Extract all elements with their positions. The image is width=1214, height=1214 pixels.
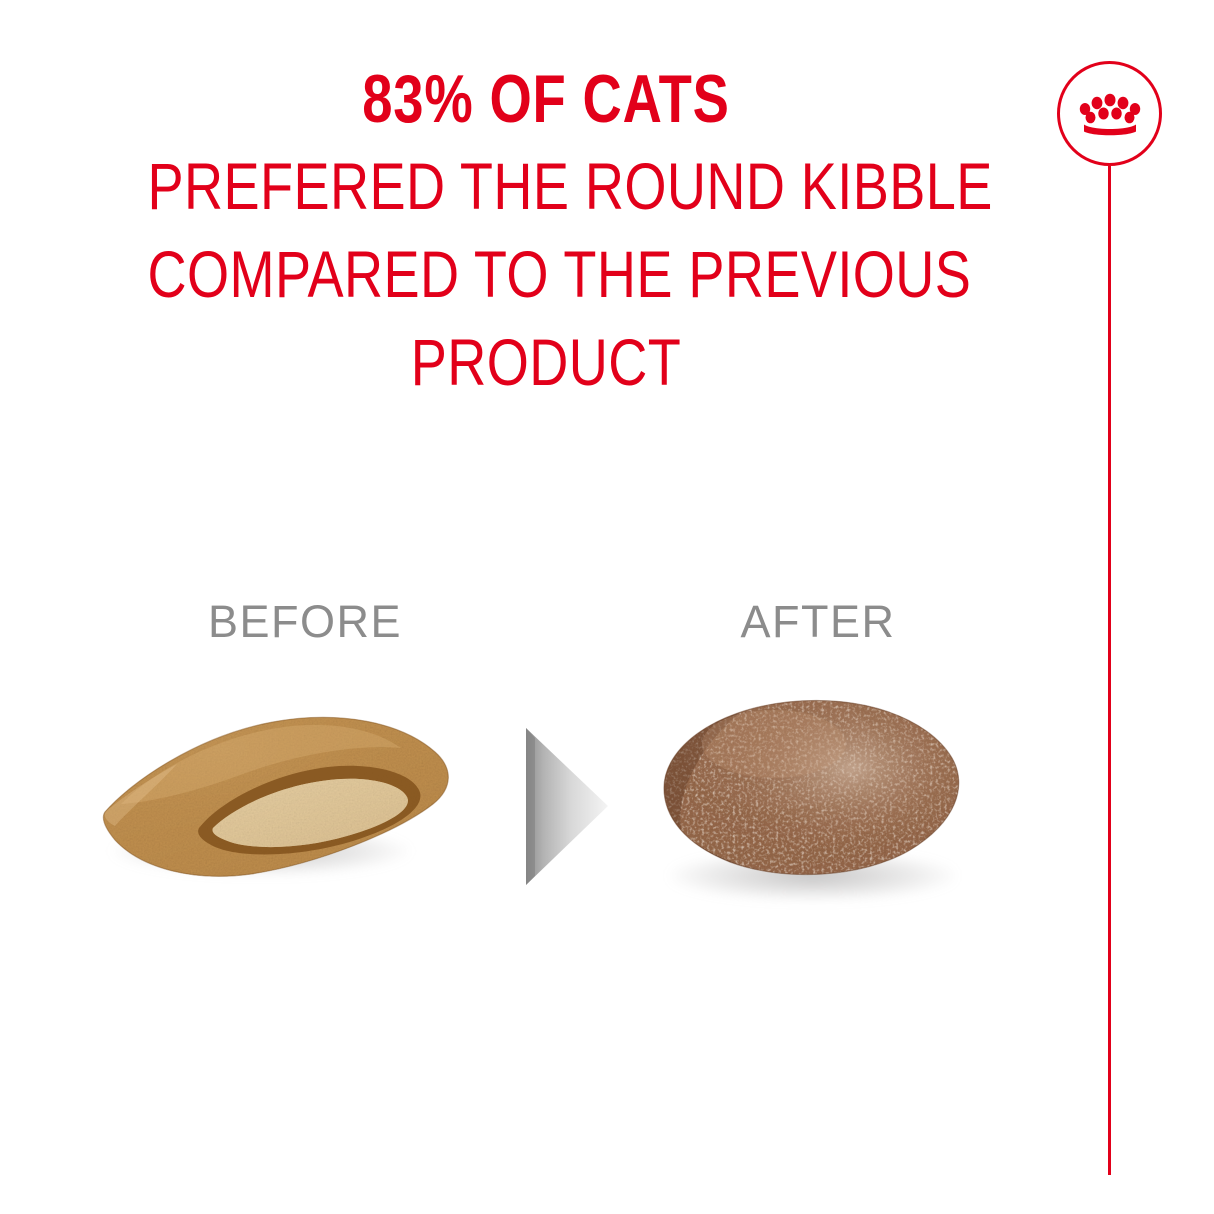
round-kibble-photo bbox=[656, 692, 966, 882]
after-kibble-stage bbox=[608, 688, 1028, 938]
before-label: BEFORE bbox=[95, 598, 515, 646]
headline-subtext: PREFERED THE ROUND KIBBLE COMPARED TO TH… bbox=[60, 142, 1032, 406]
headline-line-2: COMPARED TO THE PREVIOUS bbox=[147, 230, 944, 318]
logo-stem-line bbox=[1108, 166, 1111, 1175]
headline-line-3: PRODUCT bbox=[147, 318, 944, 406]
after-label: AFTER bbox=[608, 598, 1028, 646]
before-kibble-group bbox=[101, 708, 456, 893]
after-kibble-group bbox=[656, 692, 976, 907]
before-kibble-stage bbox=[95, 688, 515, 938]
headline-line-1: PREFERED THE ROUND KIBBLE bbox=[147, 142, 944, 230]
comparison-column-after: AFTER bbox=[608, 598, 1028, 938]
brand-logo bbox=[1057, 61, 1162, 166]
comparison-column-before: BEFORE bbox=[95, 598, 515, 938]
headline-stat: 83% OF CATS bbox=[157, 62, 935, 136]
headline: 83% OF CATS PREFERED THE ROUND KIBBLE CO… bbox=[60, 62, 1032, 406]
triangle-right-icon bbox=[518, 724, 613, 889]
before-after-comparison: BEFORE bbox=[0, 598, 1050, 928]
flat-almond-kibble-photo bbox=[101, 708, 456, 883]
royal-canin-crown-icon bbox=[1079, 92, 1141, 136]
